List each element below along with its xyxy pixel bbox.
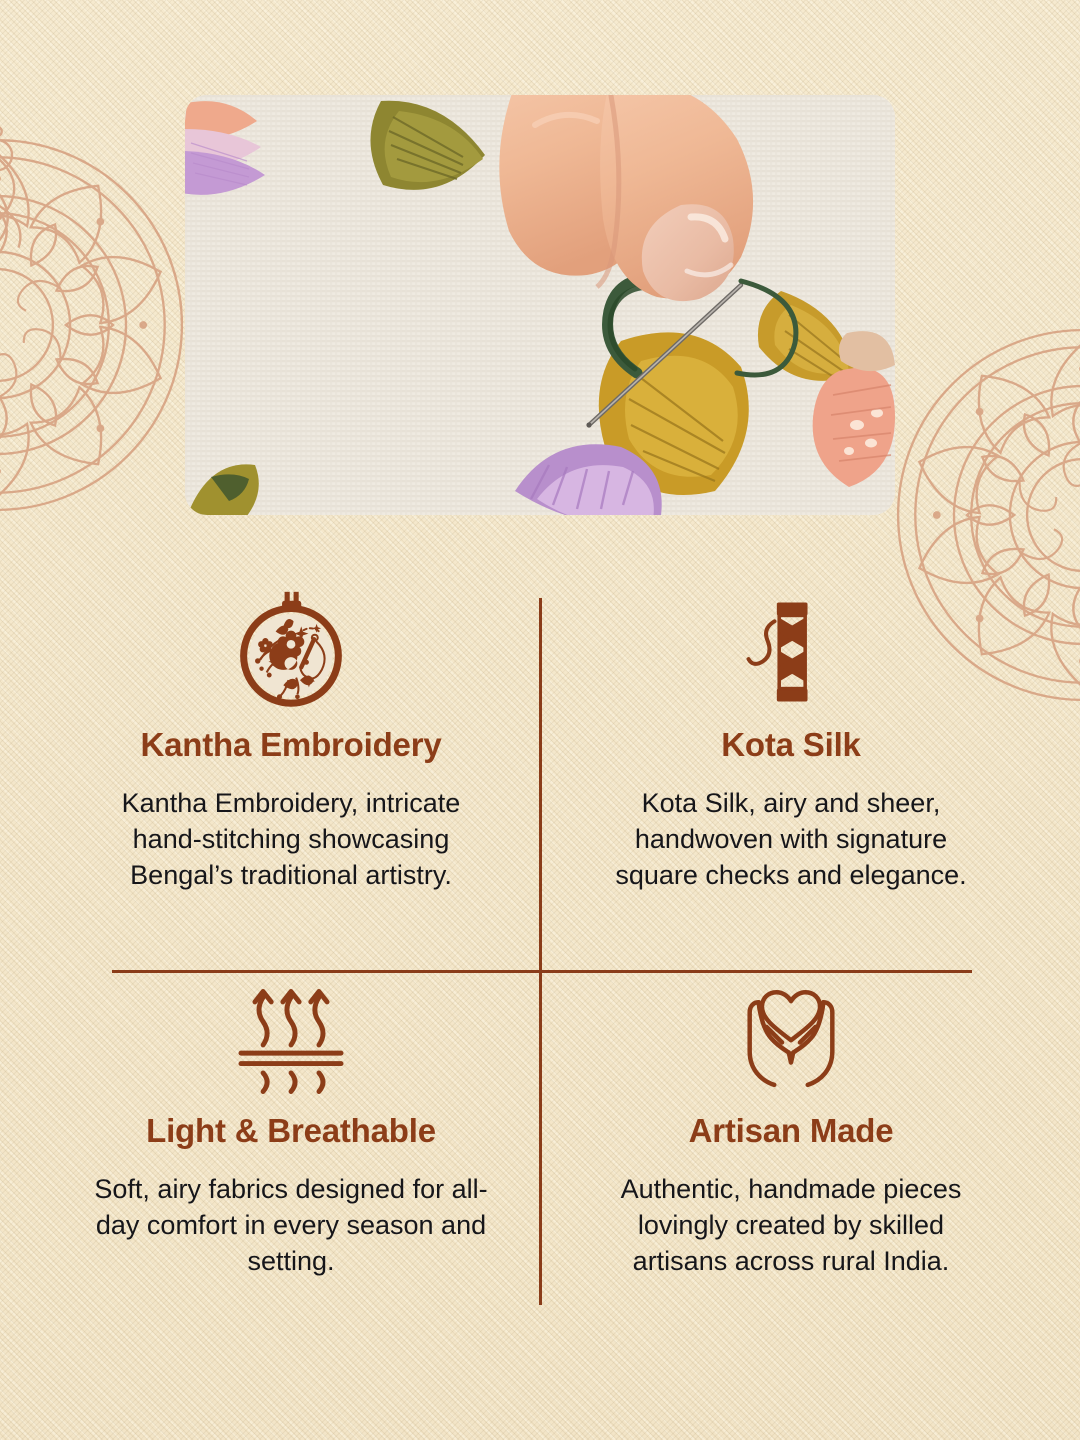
hands-holding-heart-icon: [724, 972, 858, 1104]
embroidery-hoop-icon: [227, 586, 355, 718]
feature-title: Light & Breathable: [146, 1112, 436, 1150]
feature-infographic-page: Kantha Embroidery Kantha Embroidery, int…: [0, 0, 1080, 1440]
feature-grid: Kantha Embroidery Kantha Embroidery, int…: [0, 560, 1080, 1340]
feature-description: Authentic, handmade pieces lovingly crea…: [591, 1172, 991, 1280]
grid-divider-vertical: [539, 598, 542, 1305]
thread-spool-icon: [732, 586, 850, 718]
feature-card-kota-silk: Kota Silk Kota Silk, airy and sheer, han…: [556, 586, 1026, 894]
feature-title: Artisan Made: [689, 1112, 894, 1150]
feature-card-artisan-made: Artisan Made Authentic, handmade pieces …: [556, 972, 1026, 1280]
feature-description: Soft, airy fabrics designed for all-day …: [91, 1172, 491, 1280]
kantha-embroidery-photo: [185, 95, 895, 515]
mandala-ornament-left: [0, 110, 212, 545]
feature-card-light-breathable: Light & Breathable Soft, airy fabrics de…: [56, 972, 526, 1280]
breathable-airflow-icon: [227, 972, 355, 1104]
feature-description: Kantha Embroidery, intricate hand-stitch…: [91, 786, 491, 894]
feature-title: Kantha Embroidery: [141, 726, 442, 764]
feature-description: Kota Silk, airy and sheer, handwoven wit…: [591, 786, 991, 894]
feature-card-kantha-embroidery: Kantha Embroidery Kantha Embroidery, int…: [56, 586, 526, 894]
feature-title: Kota Silk: [721, 726, 860, 764]
